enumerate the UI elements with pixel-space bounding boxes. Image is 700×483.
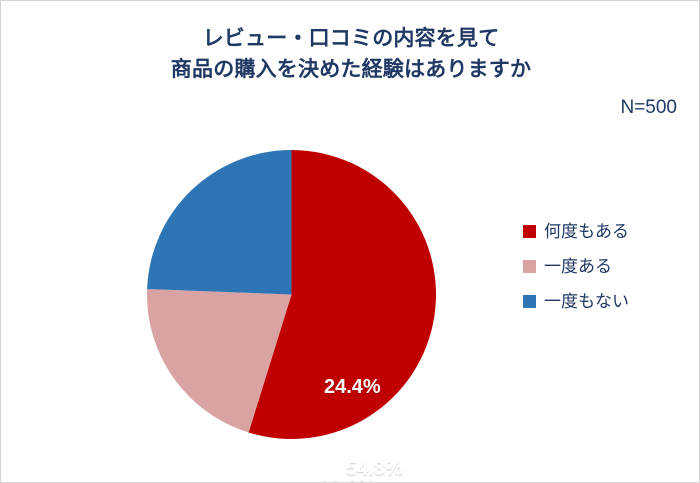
legend-item-1[interactable]: 一度ある: [523, 249, 693, 284]
pie-chart-svg: [147, 150, 436, 439]
legend-item-2[interactable]: 一度もない: [523, 284, 693, 319]
legend-item-0[interactable]: 何度もある: [523, 214, 693, 249]
pie-chart: 54.8% 20.8% 24.4%: [147, 150, 436, 439]
legend-label-2: 一度もない: [544, 292, 629, 312]
pie-slice-label-2: 24.4%: [324, 376, 381, 398]
pie-slice-label-1: 20.8%: [319, 476, 376, 483]
chart-title-line-1: レビュー・口コミの内容を見て: [1, 23, 700, 54]
sample-size-label: N=500: [620, 96, 677, 120]
legend-swatch-icon-2: [523, 295, 536, 308]
page-title: レビュー・口コミの内容を見て 商品の購入を決めた経験はありますか: [1, 23, 700, 85]
chart-canvas: レビュー・口コミの内容を見て 商品の購入を決めた経験はありますか N=500 5…: [0, 0, 700, 483]
legend-label-1: 一度ある: [544, 257, 612, 277]
legend-swatch-icon-1: [523, 260, 536, 273]
pie-slice[interactable]: [147, 150, 291, 295]
chart-title-line-2: 商品の購入を決めた経験はありますか: [1, 54, 700, 85]
chart-legend: 何度もある 一度ある 一度もない: [523, 214, 693, 319]
legend-label-0: 何度もある: [544, 222, 629, 242]
legend-swatch-icon-0: [523, 225, 536, 238]
